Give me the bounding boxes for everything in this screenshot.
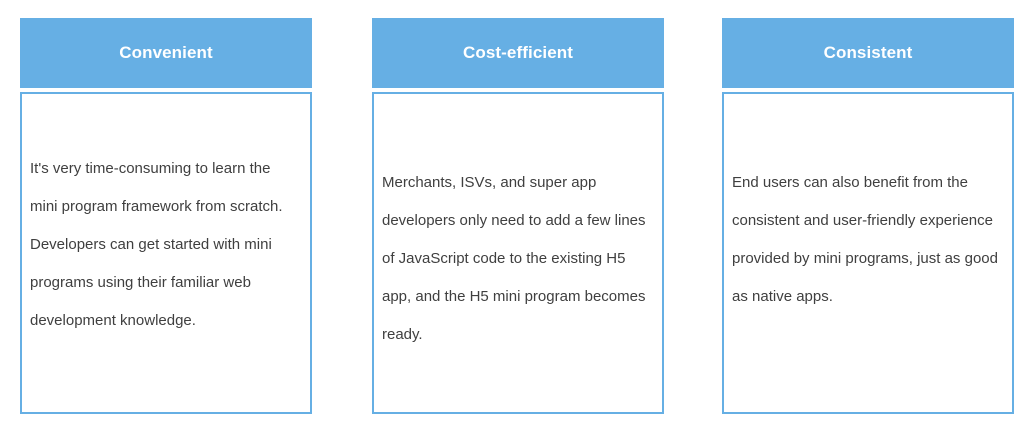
benefits-card-row: Convenient It's very time-consuming to l… xyxy=(0,0,1021,426)
card-title: Convenient xyxy=(119,43,213,63)
card-body-cost-efficient: Merchants, ISVs, and super app developer… xyxy=(372,92,664,414)
card-body-consistent: End users can also benefit from the cons… xyxy=(722,92,1014,414)
benefit-card-consistent: Consistent End users can also benefit fr… xyxy=(722,18,1014,414)
card-header-cost-efficient: Cost-efficient xyxy=(372,18,664,88)
card-title: Cost-efficient xyxy=(463,43,573,63)
card-body-text: End users can also benefit from the cons… xyxy=(732,102,1002,316)
card-header-consistent: Consistent xyxy=(722,18,1014,88)
card-body-text: Merchants, ISVs, and super app developer… xyxy=(382,102,652,354)
benefit-card-convenient: Convenient It's very time-consuming to l… xyxy=(20,18,312,414)
card-body-convenient: It's very time-consuming to learn the mi… xyxy=(20,92,312,414)
card-title: Consistent xyxy=(824,43,913,63)
benefit-card-cost-efficient: Cost-efficient Merchants, ISVs, and supe… xyxy=(372,18,664,414)
card-header-convenient: Convenient xyxy=(20,18,312,88)
card-body-text: It's very time-consuming to learn the mi… xyxy=(30,102,300,340)
